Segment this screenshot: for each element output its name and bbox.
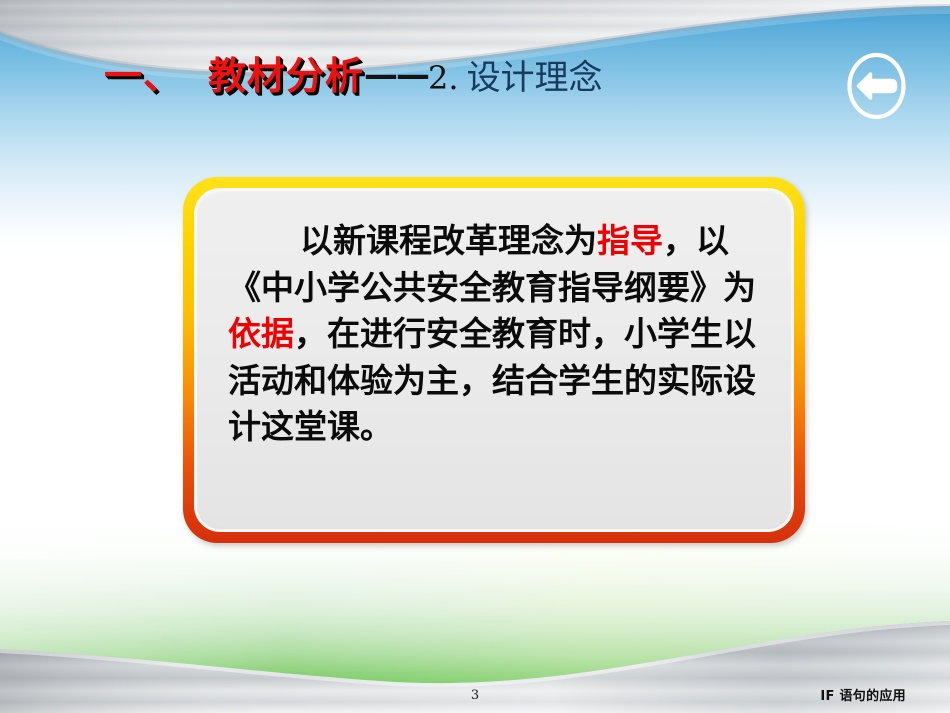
text-segment-1: 以新课程改革理念为 xyxy=(300,221,597,260)
footer-label: IF 语句的应用 xyxy=(820,685,906,704)
text-highlight-zhidao: 指导 xyxy=(597,221,663,260)
section-number: 一、 xyxy=(104,54,182,98)
subsection-number: 2. xyxy=(428,59,459,97)
content-callout-inner: 以新课程改革理念为指导，以《中小学公共安全教育指导纲要》为依据，在进行安全教育时… xyxy=(194,188,794,532)
subsection-title: 设计理念 xyxy=(467,58,603,98)
back-arrow-circle-icon[interactable] xyxy=(845,51,908,121)
section-title: 教材分析 xyxy=(208,54,364,98)
slide-title: 一、教材分析——2.设计理念 xyxy=(104,57,603,95)
text-segment-3: ，在进行安全教育时，小学生以活动和体验为主，结合学生的实际设计这堂课。 xyxy=(228,314,756,446)
page-number: 3 xyxy=(0,688,950,703)
content-callout-box: 以新课程改革理念为指导，以《中小学公共安全教育指导纲要》为依据，在进行安全教育时… xyxy=(183,177,805,543)
content-paragraph: 以新课程改革理念为指导，以《中小学公共安全教育指导纲要》为依据，在进行安全教育时… xyxy=(228,218,760,451)
back-button[interactable] xyxy=(845,51,908,121)
title-dash: —— xyxy=(364,55,428,95)
slide-canvas: 一、教材分析——2.设计理念 以新课程改革理念为指导，以《中小学公共安全教育指导… xyxy=(0,0,950,713)
text-highlight-yiju: 依据 xyxy=(228,314,294,353)
